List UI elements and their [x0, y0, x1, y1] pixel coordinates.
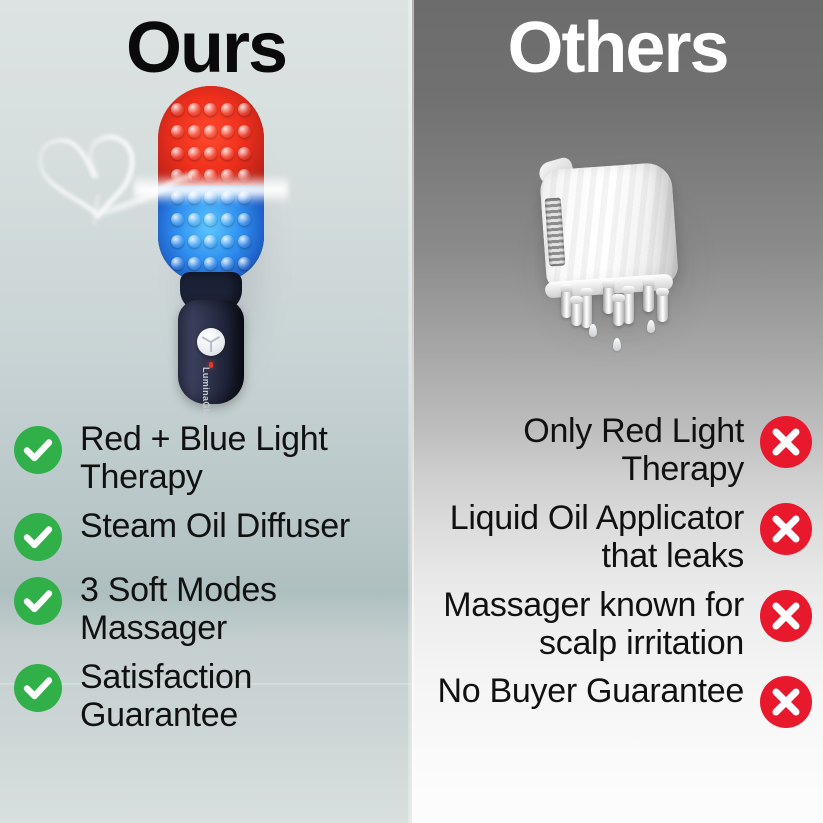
brush-handle: LuminaGlow [178, 300, 244, 404]
list-item: 3 Soft Modes Massager [14, 571, 400, 648]
oil-drip [613, 338, 621, 351]
panel-divider [408, 0, 414, 823]
list-item: Massager known for scalp irritation [424, 586, 812, 663]
list-item-label: Only Red Light Therapy [424, 412, 744, 489]
list-item-label: Satisfaction Guarantee [80, 658, 400, 735]
comparison-infographic: Ours [0, 0, 823, 823]
check-circle-icon [14, 426, 62, 474]
list-item-label: Red + Blue Light Therapy [80, 420, 400, 497]
check-circle-icon [14, 577, 62, 625]
applicator-prong [571, 300, 582, 326]
applicator-prong [657, 292, 668, 322]
oil-drip [647, 320, 655, 333]
applicator-prong [613, 298, 624, 326]
check-circle-icon [14, 664, 62, 712]
others-title: Others [412, 12, 823, 84]
x-circle-icon [760, 416, 812, 468]
list-item: Only Red Light Therapy [424, 412, 812, 489]
others-product-image [517, 152, 713, 360]
power-button-icon [197, 328, 225, 356]
list-item-label: 3 Soft Modes Massager [80, 571, 400, 648]
check-circle-icon [14, 513, 62, 561]
list-item-label: No Buyer Guarantee [438, 672, 744, 710]
x-circle-icon [760, 503, 812, 555]
others-feature-list: Only Red Light Therapy Liquid Oil Applic… [424, 412, 812, 738]
product-brand-label: LuminaGlow [201, 367, 211, 425]
list-item-label: Liquid Oil Applicator that leaks [424, 499, 744, 576]
list-item-label: Steam Oil Diffuser [80, 507, 350, 545]
ours-title: Ours [0, 12, 412, 84]
list-item: Steam Oil Diffuser [14, 507, 400, 561]
oil-drip [589, 324, 597, 337]
list-item: No Buyer Guarantee [424, 672, 812, 728]
list-item: Satisfaction Guarantee [14, 658, 400, 735]
list-item-label: Massager known for scalp irritation [424, 586, 744, 663]
list-item: Red + Blue Light Therapy [14, 420, 400, 497]
ours-feature-list: Red + Blue Light Therapy Steam Oil Diffu… [14, 420, 400, 744]
steam-wisp-icon [24, 112, 192, 230]
applicator-prong [643, 282, 654, 312]
x-circle-icon [760, 590, 812, 642]
list-item: Liquid Oil Applicator that leaks [424, 499, 812, 576]
ours-panel: Ours [0, 0, 412, 823]
x-circle-icon [760, 676, 812, 728]
others-panel: Others Only Red Light Therapy [412, 0, 823, 823]
applicator-prong [623, 290, 634, 324]
